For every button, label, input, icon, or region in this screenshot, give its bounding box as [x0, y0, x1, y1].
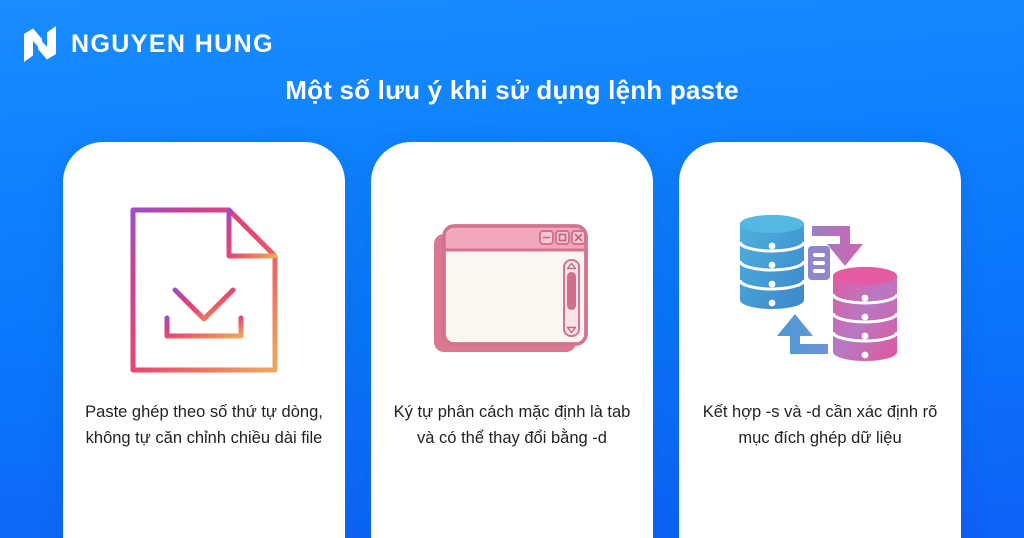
card-item: Kết hợp -s và -d cần xác định rõ mục đíc… [679, 142, 961, 538]
infographic-poster: NGUYEN HUNG Một số lưu ý khi sử dụng lện… [0, 0, 1024, 538]
card-caption: Ký tự phân cách mặc định là tab và có th… [385, 400, 640, 451]
nh-monogram-icon [22, 24, 58, 64]
card-caption: Paste ghép theo số thứ tự dòng, không tự… [77, 400, 332, 451]
card-item: Paste ghép theo số thứ tự dòng, không tự… [63, 142, 345, 538]
document-download-icon [63, 194, 345, 386]
card-list: Paste ghép theo số thứ tự dòng, không tự… [63, 142, 961, 538]
card-item: Ký tự phân cách mặc định là tab và có th… [371, 142, 653, 538]
brand-lockup: NGUYEN HUNG [22, 24, 274, 64]
card-caption: Kết hợp -s và -d cần xác định rõ mục đíc… [693, 400, 948, 451]
brand-name: NGUYEN HUNG [71, 32, 274, 57]
browser-window-scrollbar-icon [371, 194, 653, 386]
database-transfer-icon [679, 194, 961, 386]
page-title: Một số lưu ý khi sử dụng lệnh paste [0, 74, 1024, 107]
